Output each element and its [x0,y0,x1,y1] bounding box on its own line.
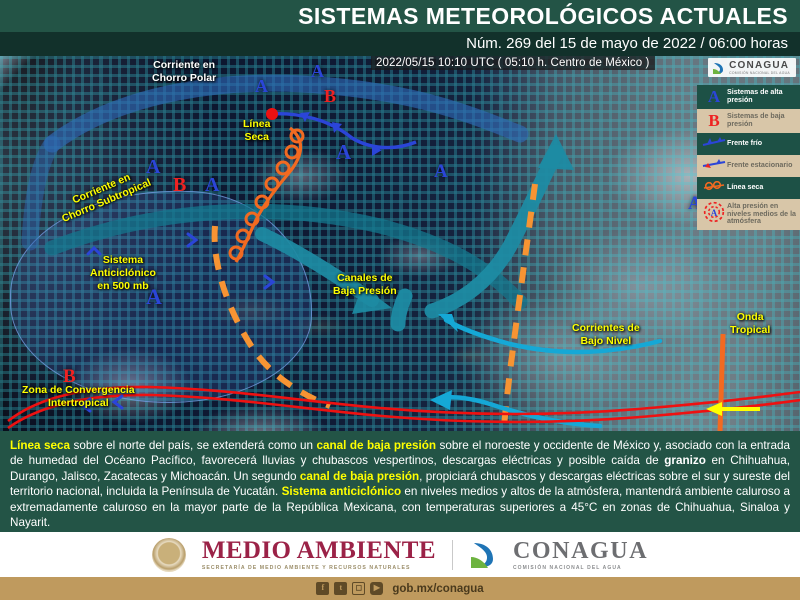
legend-item-linea-seca[interactable]: Línea seca [697,177,800,199]
legend-label: Línea seca [727,184,763,192]
youtube-icon[interactable]: ▶ [370,582,383,595]
svg-text:A: A [711,208,718,218]
high-pressure-A-icon: A [701,87,727,107]
legend-label: Sistemas de alta presión [727,89,797,105]
low-level-arrowhead-2 [430,390,452,410]
ministry-name: MEDIO AMBIENTE [202,538,436,563]
map-label-linea-seca: Línea Seca [243,118,270,144]
stationary-front-icon [701,157,727,175]
legend-label: Alta presión en niveles medios de la atm… [727,203,797,226]
cold-front-icon [701,135,727,153]
instagram-icon[interactable]: ◻ [352,582,365,595]
mid-level-high-icon: A [701,201,727,228]
legend-item-frente-estacionario[interactable]: Frente estacionario [697,155,800,177]
legend-item-baja-presion[interactable]: B Sistemas de baja presión [697,109,800,133]
pressure-symbol-A: A [434,161,448,183]
conagua-map-badge: CONAGUA COMISIÓN NACIONAL DEL AGUA [708,58,796,77]
cold-front-line-2 [352,138,416,148]
low-level-arrowhead-1 [438,314,458,332]
legend-item-frente-frio[interactable]: Frente frío [697,133,800,155]
map-label-corrientes-bajo-nivel: Corrientes de Bajo Nivel [572,322,640,348]
legend-label: Frente frío [727,140,762,148]
map-legend: A Sistemas de alta presión B Sistemas de… [697,85,800,230]
page-title: SISTEMAS METEOROLÓGICOS ACTUALES [298,2,788,30]
weather-bulletin-page: SISTEMAS METEOROLÓGICOS ACTUALES Núm. 26… [0,0,800,600]
synoptic-overlay [0,56,800,431]
agency-sub: COMISIÓN NACIONAL DEL AGUA [513,566,648,571]
logo-divider [452,540,453,570]
satellite-map[interactable]: A A B A A B A A A A B Corriente en Chorr… [0,56,800,431]
conagua-badge-sub: COMISIÓN NACIONAL DEL AGUA [729,71,790,75]
conagua-wave-logo-icon [469,540,497,570]
tropical-wave-line [720,334,723,431]
agency-logo-text: CONAGUA COMISIÓN NACIONAL DEL AGUA [513,539,648,571]
low-pressure-B-icon: B [701,111,727,131]
map-label-zona-convergencia-intertropical: Zona de Convergencia Intertropical [22,384,135,410]
mexico-coat-of-arms-icon [152,538,186,572]
map-timestamp: 2022/05/15 10:10 UTC ( 05:10 h. Centro d… [371,56,655,70]
footer-logos: MEDIO AMBIENTE SECRETARÍA DE MEDIO AMBIE… [0,532,800,577]
agency-name: CONAGUA [513,539,648,563]
pressure-symbol-A: A [255,76,268,97]
pressure-symbol-A: A [205,174,219,197]
pressure-symbol-B: B [324,86,336,107]
map-label-onda-tropical: Onda Tropical [730,311,770,337]
legend-label: Frente estacionario [727,162,792,170]
conagua-wave-icon [712,61,725,75]
website-url[interactable]: gob.mx/conagua [392,583,483,595]
polar-jet-tail [30,144,52,242]
map-label-sistema-anticiclonico: Sistema Anticiclónico en 500 mb [90,254,156,293]
trough-line-west [215,226,330,406]
dry-line-icon [701,179,727,197]
pressure-symbol-A: A [311,61,324,82]
legend-label: Sistemas de baja presión [727,113,797,129]
issue-line: Núm. 269 del 15 de mayo de 2022 / 06:00 … [466,33,788,55]
social-bar: f t ◻ ▶ gob.mx/conagua [0,577,800,600]
pressure-symbol-A: A [336,140,351,165]
tropical-wave-arrowhead [706,402,722,416]
ministry-sub: SECRETARÍA DE MEDIO AMBIENTE Y RECURSOS … [202,566,436,571]
map-label-canales-baja-presion: Canales de Baja Presión [333,272,397,298]
ministry-logo-text: MEDIO AMBIENTE SECRETARÍA DE MEDIO AMBIE… [202,538,436,571]
map-label-corriente-chorro-polar: Corriente en Chorro Polar [152,59,216,85]
conagua-badge-name: CONAGUA [729,60,790,71]
facebook-icon[interactable]: f [316,582,329,595]
forecast-paragraph: Línea seca sobre el norte del país, se e… [10,438,790,530]
legend-item-alta-presion-niveles-medios[interactable]: A Alta presión en niveles medios de la a… [697,199,800,230]
forecast-text-panel: Línea seca sobre el norte del país, se e… [0,431,800,532]
twitter-icon[interactable]: t [334,582,347,595]
legend-item-alta-presion[interactable]: A Sistemas de alta presión [697,85,800,109]
pressure-symbol-B: B [173,174,186,197]
gulf-flow-arrowhead [538,134,574,170]
